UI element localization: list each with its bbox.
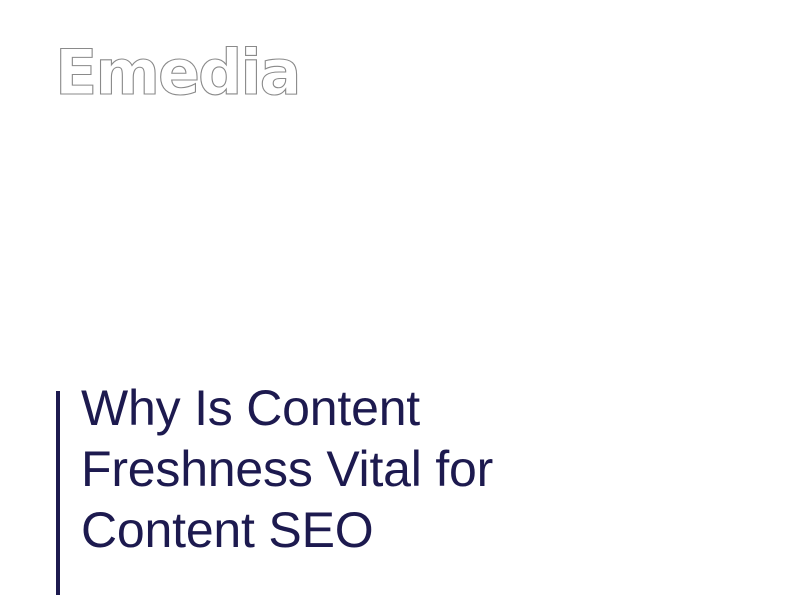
emedia-logo[interactable]: Emedia [55,36,295,106]
headline-block: Why Is Content Freshness Vital for Conte… [56,391,493,595]
page-title: Why Is Content Freshness Vital for Conte… [81,378,493,561]
emedia-wordmark-icon: Emedia [55,36,295,106]
headline-accent-bar [56,391,60,595]
headline-line-2: Freshness Vital for [81,439,493,500]
headline-line-3: Content SEO [81,500,493,561]
emedia-logo-text: Emedia [55,36,299,109]
title-slide: Emedia Why Is Content Freshness Vital fo… [0,0,800,600]
headline-line-1: Why Is Content [81,378,493,439]
